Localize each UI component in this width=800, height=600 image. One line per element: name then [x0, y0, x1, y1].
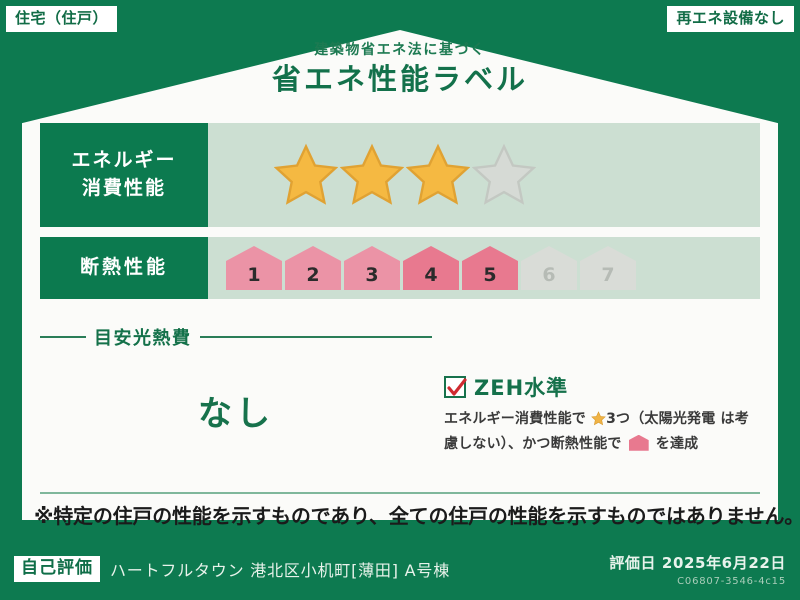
insulation-grade-value: 7 [601, 264, 614, 286]
insulation-grade-badge-1: 1 [226, 246, 282, 290]
insulation-performance-label: 断熱性能 [40, 237, 208, 299]
heading-rule-right [200, 336, 433, 338]
zeh-checkbox[interactable] [444, 376, 466, 398]
insulation-grade-badge-2: 2 [285, 246, 341, 290]
title-subtitle: 建築物省エネ法に基づく [0, 42, 800, 59]
insulation-grade-badge-6: 6 [521, 246, 577, 290]
utility-cost-heading-text: 目安光熱費 [86, 324, 200, 350]
zeh-description: エネルギー消費性能で 3つ（太陽光発電 は考慮しない）、かつ断熱性能で を達成 [444, 409, 760, 455]
zeh-desc-part1: エネルギー消費性能で [444, 411, 586, 427]
star-empty-icon [472, 143, 536, 207]
insulation-grade-badge-3: 3 [344, 246, 400, 290]
title-main: 省エネ性能ラベル [0, 64, 800, 96]
star-filled-icon [274, 143, 338, 207]
zeh-title-row: ZEH水準 [444, 372, 760, 402]
footer-bar: 自己評価 ハートフルタウン 港北区小机町[薄田] A号棟 評価日 2025年6月… [0, 538, 800, 600]
building-type-tag: 住宅（住戸） [6, 6, 117, 32]
star-rating [214, 143, 536, 207]
evaluation-date: 評価日 2025年6月22日 [609, 552, 786, 573]
insulation-grade-value: 2 [306, 264, 319, 286]
insulation-label-text: 断熱性能 [80, 254, 168, 282]
insulation-grade-badge-7: 7 [580, 246, 636, 290]
lower-panel: 目安光熱費 なし ZEH水準 エネルギー消費性能で [40, 320, 760, 488]
energy-performance-label: エネルギー 消費性能 [40, 123, 208, 227]
insulation-grade-badge-5: 5 [462, 246, 518, 290]
property-name: ハートフルタウン 港北区小机町[薄田] A号棟 [110, 557, 609, 581]
insulation-grade-value: 3 [365, 264, 378, 286]
energy-performance-body [208, 123, 760, 227]
performance-rows: エネルギー 消費性能 断熱性能 1234567 [40, 123, 760, 309]
insulation-grade-value: 4 [424, 264, 437, 286]
lower-columns: なし ZEH水準 エネルギー消費性能で [40, 364, 760, 455]
evaluation-id: C06807-3546-4c15 [609, 576, 786, 587]
zeh-desc-part2: 3つ（太陽光発電 [606, 411, 715, 427]
inline-grade-badge-icon [629, 435, 649, 451]
energy-performance-label: 住宅（住戸） 再エネ設備なし 建築物省エネ法に基づく 省エネ性能ラベル エネルギ… [0, 0, 800, 600]
utility-cost-column: なし [40, 364, 432, 455]
insulation-grade-badge-4: 4 [403, 246, 459, 290]
utility-cost-value: なし [198, 386, 274, 435]
disclaimer-text: ※特定の住戸の性能を示すものであり、全ての住戸の性能を示すものではありません。 [34, 500, 774, 529]
energy-label-line2: 消費性能 [82, 175, 166, 203]
zeh-desc-part4: を達成 [656, 436, 699, 452]
energy-label-line1: エネルギー [71, 147, 176, 175]
renewable-equipment-tag: 再エネ設備なし [667, 6, 794, 32]
insulation-grade-value: 6 [542, 264, 555, 286]
check-icon [447, 378, 467, 398]
star-filled-icon [406, 143, 470, 207]
insulation-grade-value: 5 [483, 264, 496, 286]
energy-performance-row: エネルギー 消費性能 [40, 123, 760, 227]
footer-right-block: 評価日 2025年6月22日 C06807-3546-4c15 [609, 552, 786, 587]
zeh-title-text: ZEH水準 [474, 372, 568, 402]
disclaimer-divider [40, 492, 760, 494]
self-evaluation-tag: 自己評価 [14, 556, 100, 582]
insulation-grade-scale: 1234567 [226, 246, 636, 290]
insulation-performance-row: 断熱性能 1234567 [40, 237, 760, 299]
page-title: 建築物省エネ法に基づく 省エネ性能ラベル [0, 42, 800, 96]
star-filled-icon [340, 143, 404, 207]
insulation-performance-body: 1234567 [208, 237, 760, 299]
insulation-grade-value: 1 [247, 264, 260, 286]
utility-cost-heading: 目安光熱費 [40, 324, 432, 350]
zeh-column: ZEH水準 エネルギー消費性能で 3つ（太陽光発電 は考慮しない）、かつ断熱性能… [432, 364, 760, 455]
heading-rule-left [40, 336, 86, 338]
inline-star-icon [591, 411, 606, 434]
